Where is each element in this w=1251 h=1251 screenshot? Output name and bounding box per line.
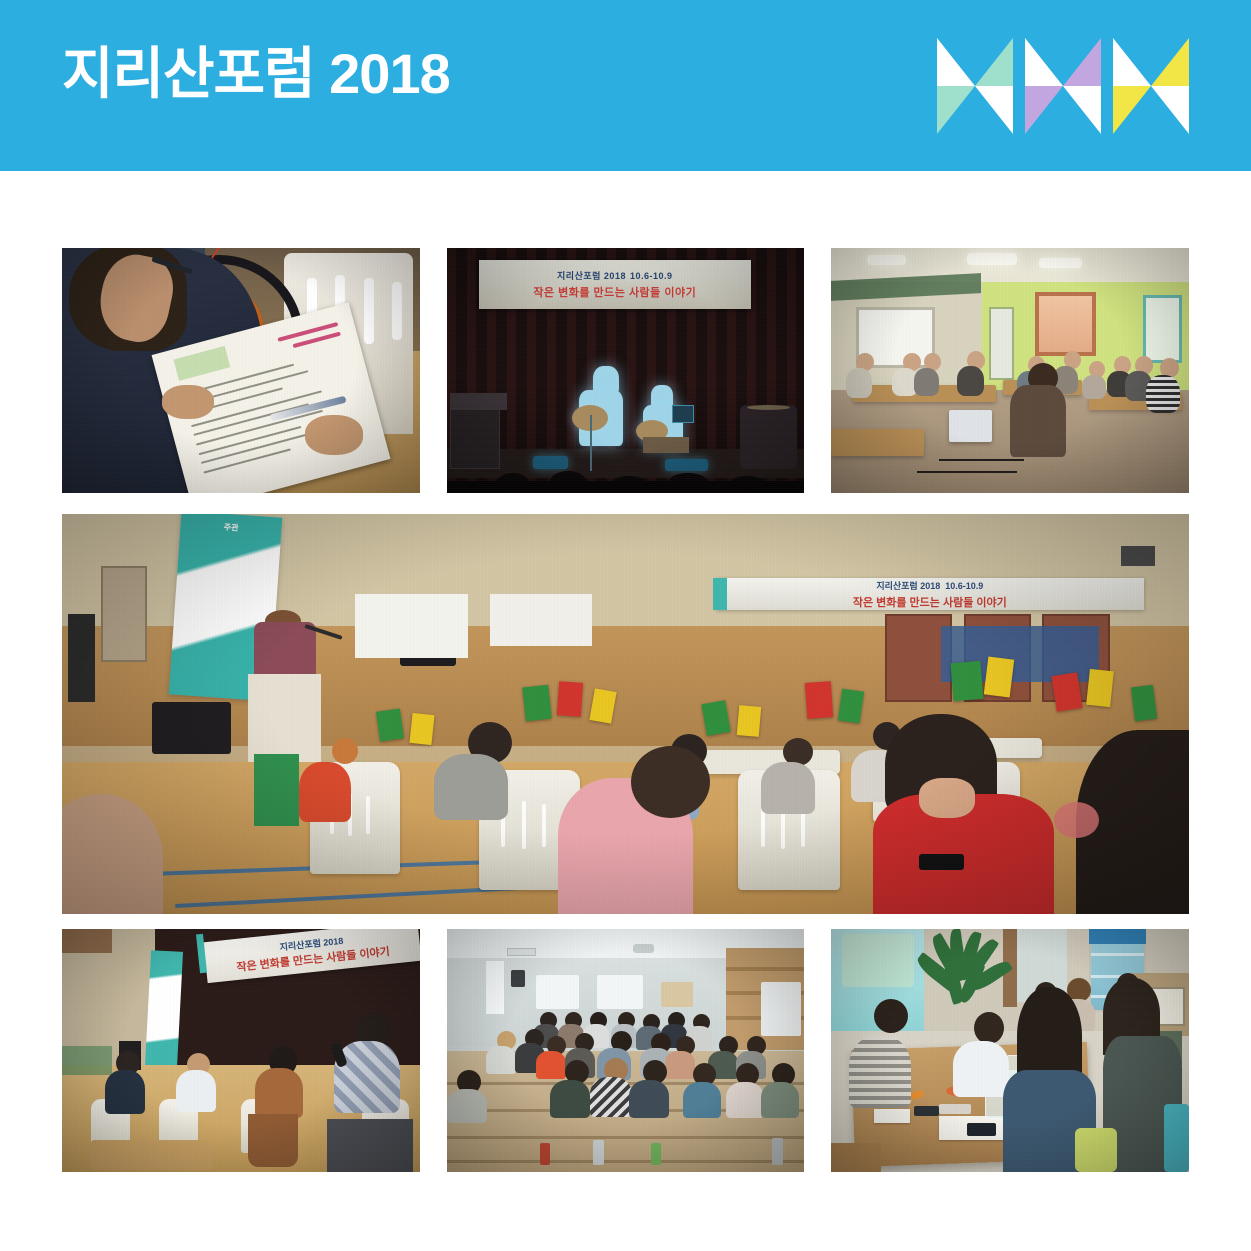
participant-body [957,366,984,396]
banner-date: 10.6-10.9 [630,271,673,281]
music-stand [672,405,694,423]
right-hand [305,415,363,455]
audience-body [665,1051,695,1079]
diamond-lavender-top-right [1063,38,1101,86]
mc-lower [248,674,321,762]
audience-body [486,1046,516,1074]
voting-card-green [838,689,864,724]
notepaper [874,1109,910,1124]
audience-body [683,1082,721,1118]
three-diamond-logo [937,38,1189,134]
cable [917,471,1017,473]
diamond-mint-top-left [937,38,975,86]
diamond-mint-top-right [975,38,1013,86]
foreground-pink-head [631,746,710,818]
photo-tiered-audience [447,929,805,1172]
raised-hand [919,778,975,818]
laptop [949,410,992,442]
side-door [101,566,146,662]
middle-row: 주관 지리산포럼 2018 10.6-10.9 [62,514,1189,914]
audience-body-orange [299,762,351,822]
ceiling-light [1039,258,1082,268]
wristwatch [919,854,964,870]
audience-body [761,1082,799,1118]
diamond-yellow-top-right [1151,38,1189,86]
music-stand [68,614,95,702]
stage-monitor-left [533,456,569,468]
person-striped-top [849,1036,911,1108]
participant-body [846,368,872,398]
audience-body [550,1080,590,1118]
photo-stage-concert: 지리산포럼 2018 10.6-10.9 작은 변화를 만드는 사람들 이야기 [447,248,805,493]
potted-plant [917,929,1017,1021]
stool [643,437,689,453]
panelist-body [255,1068,303,1118]
poster-page: 지리산포럼 2018 [0,0,1251,1251]
audience-body [726,1082,764,1118]
wall-speaker [511,970,525,987]
audience-body-red [536,1051,566,1079]
photo-floor-workshop [831,248,1189,493]
diamond-mint-icon [937,38,1013,134]
photo-cafe-table [831,929,1189,1172]
voting-card-green [1131,685,1157,721]
cafe-chair-green [1075,1128,1118,1172]
water-bottle [651,1143,662,1165]
equipment-case [152,702,231,754]
cable [939,459,1025,461]
mc-pants [254,754,299,826]
person-white-jacket [953,1041,1009,1097]
photo-gym-voting: 주관 지리산포럼 2018 10.6-10.9 [62,514,1189,914]
bench-foreground [831,1143,881,1172]
window-right [761,982,800,1035]
diamond-lavender-top-left [1025,38,1063,86]
top-row: 지리산포럼 2018 10.6-10.9 작은 변화를 만드는 사람들 이야기 [62,248,1189,493]
doorway [989,307,1014,381]
panelist-body [176,1070,216,1112]
diamond-lavender-bottom-right [1063,86,1101,134]
cymbal [747,405,790,410]
moderator-legs [327,1119,413,1172]
voting-card-red [557,681,583,717]
thermos [593,1140,604,1164]
drum-kit [740,405,797,469]
projection-screen [536,975,579,1009]
stage-banner: 지리산포럼 2018 10.6-10.9 작은 변화를 만드는 사람들 이야기 [479,260,751,309]
wall-trim [62,929,112,953]
presenter-body [1010,385,1066,457]
pencil-case [939,1104,971,1114]
projector [633,944,654,954]
window-left [486,961,504,1014]
banner-subtitle: 작은 변화를 만드는 사람들 이야기 [533,284,696,300]
moderator-plaid-shirt [334,1041,400,1113]
cafe-chair-teal [1164,1104,1189,1172]
wall-poster [1143,295,1182,364]
ceiling-light [967,253,1017,265]
voting-card-red [805,681,833,719]
sponsor-vertical-banner [145,950,183,1068]
stage-monitor-right [665,459,708,471]
thermos [772,1138,783,1165]
panelist-body [105,1070,145,1114]
voting-card-yellow [410,713,435,745]
audience-row [447,481,805,493]
voting-card-red [1051,672,1082,712]
banner-subtitle: 작은 변화를 만드는 사람들 이야기 [853,594,1007,610]
window-curtain [1035,292,1096,356]
photo-handout-reader [62,248,420,493]
photo-collage: 지리산포럼 2018 10.6-10.9 작은 변화를 만드는 사람들 이야기 [62,248,1189,1172]
voting-card-yellow [984,657,1014,698]
diamond-mint-bottom-right [975,86,1013,134]
audience-body-pattern [590,1077,632,1117]
wall-chart [355,594,468,658]
banner-date: 10.6-10.9 [945,581,983,591]
voting-card-green [522,685,551,722]
vertical-banner-text: 주관 [223,522,238,534]
voting-card-yellow [1086,669,1114,707]
participant-body [1082,375,1106,399]
panelist-skirt [248,1114,298,1167]
keyboard [450,393,507,410]
banner-title: 지리산포럼 2018 [557,269,626,282]
bottom-row: 지리산포럼 2018 작은 변화를 만드는 사람들 이야기 [62,929,1189,1172]
diamond-yellow-bottom-left [1113,86,1151,134]
diamond-mint-bottom-left [937,86,975,134]
banner-edge [713,578,727,610]
low-table-foreground [831,429,924,456]
left-hand [162,385,214,419]
audience-head [332,738,358,764]
window-decal [842,934,914,987]
audience-body [629,1080,669,1118]
audience-body [447,1089,487,1123]
audience-body-grey [434,754,508,820]
forum-banner: 지리산포럼 2018 10.6-10.9 작은 변화를 만드는 사람들 이야기 [716,578,1144,610]
diamond-yellow-top-left [1113,38,1151,86]
ceiling-light [867,255,906,265]
mic-stand [590,415,592,471]
person-head [974,1012,1004,1044]
ceiling-vent [507,948,536,955]
diamond-lavender-bottom-left [1025,86,1063,134]
voting-card-yellow [737,705,762,737]
glasses-reflection [1054,802,1099,838]
fridge-header-sign [1089,929,1146,944]
smartphone [914,1106,939,1116]
water-bottle [540,1143,551,1165]
participant-body [914,368,939,396]
diamond-yellow-bottom-right [1151,86,1189,134]
wooden-bench [91,1140,213,1169]
voting-card-green [951,661,984,701]
smartphone [967,1123,996,1135]
diamond-yellow-icon [1113,38,1189,134]
wall-vent [1121,546,1155,566]
diamond-lavender-icon [1025,38,1101,134]
wall-papers [490,594,591,646]
banner-title: 지리산포럼 2018 [876,579,940,592]
audience-body [761,762,815,814]
voting-card-green [376,708,404,741]
page-title: 지리산포럼 2018 [62,46,450,102]
page-header: 지리산포럼 2018 [0,0,1251,171]
wall-fan [661,982,693,1006]
participant-striped [1146,375,1180,413]
photo-panel-talk: 지리산포럼 2018 작은 변화를 만드는 사람들 이야기 [62,929,420,1172]
projection-screen [597,975,643,1009]
side-poster [62,1046,112,1075]
